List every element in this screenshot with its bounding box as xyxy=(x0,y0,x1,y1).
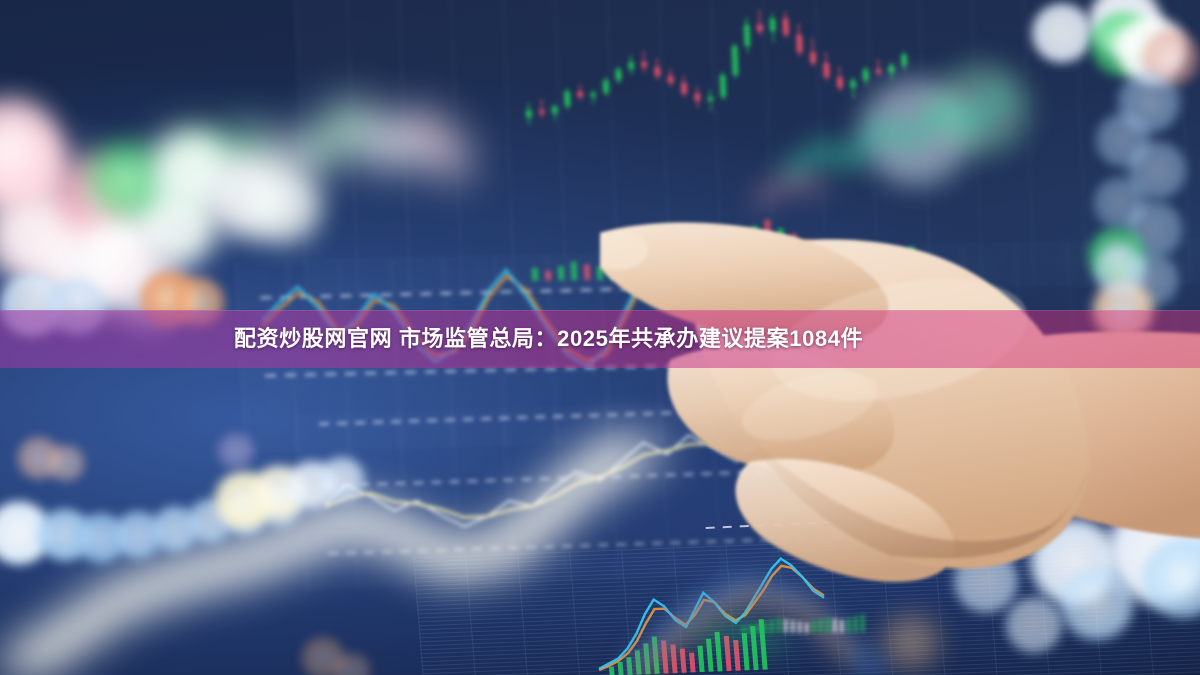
bokeh-dot xyxy=(86,140,166,216)
bokeh-dot xyxy=(212,470,276,530)
bokeh-dot xyxy=(1092,176,1148,230)
bokeh-dot xyxy=(244,168,324,246)
bokeh-dot xyxy=(46,444,86,482)
thumb xyxy=(736,459,955,582)
vertical-grid-top xyxy=(294,0,1200,296)
bokeh-dot xyxy=(58,160,142,240)
bokeh-dot xyxy=(1026,516,1122,608)
bokeh-dot xyxy=(74,212,166,300)
bokeh-dot xyxy=(258,486,302,528)
bokeh-dot xyxy=(1114,14,1190,86)
hero-image-canvas: 配资炒股网官网 市场监管总局：2025年共承办建议提案1084件 xyxy=(0,0,1200,675)
headline-title: 配资炒股网官网 市场监管总局：2025年共承办建议提案1084件 xyxy=(234,328,863,350)
bokeh-dot xyxy=(856,76,976,188)
pointing-hand xyxy=(600,210,1200,675)
bokeh-dot xyxy=(1116,70,1182,134)
hand-highlight xyxy=(734,358,885,454)
bokeh-dot xyxy=(1030,2,1094,64)
bokeh-dot xyxy=(1140,536,1200,620)
bokeh-dot xyxy=(1122,252,1180,308)
bokeh-dot xyxy=(332,652,372,675)
vertical-grid-bot xyxy=(413,523,1200,675)
headline-banner: 配资炒股网官网 市场监管总局：2025年共承办建议提案1084件 xyxy=(0,310,1200,368)
fingertip-highlight xyxy=(600,230,648,270)
bokeh-dot xyxy=(216,432,256,470)
bokeh-dot xyxy=(1088,10,1158,78)
bokeh-dot xyxy=(0,118,62,210)
scanline-texture-top xyxy=(294,0,1200,296)
bokeh-dot xyxy=(880,612,942,672)
bokeh-dot xyxy=(28,208,148,316)
hand-shading xyxy=(740,426,1086,558)
bokeh-dot xyxy=(1092,244,1148,298)
bokeh-dot xyxy=(286,460,338,510)
bokeh-dot xyxy=(0,500,54,566)
scanline-texture-low xyxy=(294,385,1200,590)
vertical-grid-low xyxy=(294,385,1200,590)
bokeh-dot xyxy=(1140,28,1200,88)
bokeh-dot xyxy=(1094,112,1152,168)
bokeh-dot xyxy=(1086,226,1148,286)
scanline-texture-bot xyxy=(413,523,1200,675)
bokeh-dot xyxy=(318,456,366,502)
bokeh-dot xyxy=(16,436,62,480)
bokeh-dot xyxy=(126,178,222,270)
bokeh-dot xyxy=(150,505,200,553)
bokeh-dot xyxy=(1058,566,1136,642)
bokeh-dot xyxy=(74,512,128,564)
bokeh-dot xyxy=(1124,200,1184,258)
bokeh-dot xyxy=(1100,492,1200,610)
bokeh-dot xyxy=(1086,0,1164,58)
bokeh-dot xyxy=(930,60,1034,158)
bokeh-dot xyxy=(112,510,164,560)
hand-illustration xyxy=(600,210,1200,675)
bokeh-dot xyxy=(36,508,94,562)
bokeh-dot xyxy=(186,498,234,544)
bokeh-dot xyxy=(300,636,346,675)
bokeh-dot xyxy=(250,464,308,520)
bokeh-dot xyxy=(222,492,268,536)
bokeh-dot xyxy=(0,96,64,200)
bokeh-dot xyxy=(150,130,236,212)
bokeh-dot xyxy=(0,186,90,286)
bokeh-dot xyxy=(1004,596,1064,654)
hand-palm xyxy=(692,239,1089,568)
bokeh-dot xyxy=(952,548,1020,614)
bokeh-dot xyxy=(200,152,292,240)
bokeh-dot xyxy=(1126,140,1188,200)
